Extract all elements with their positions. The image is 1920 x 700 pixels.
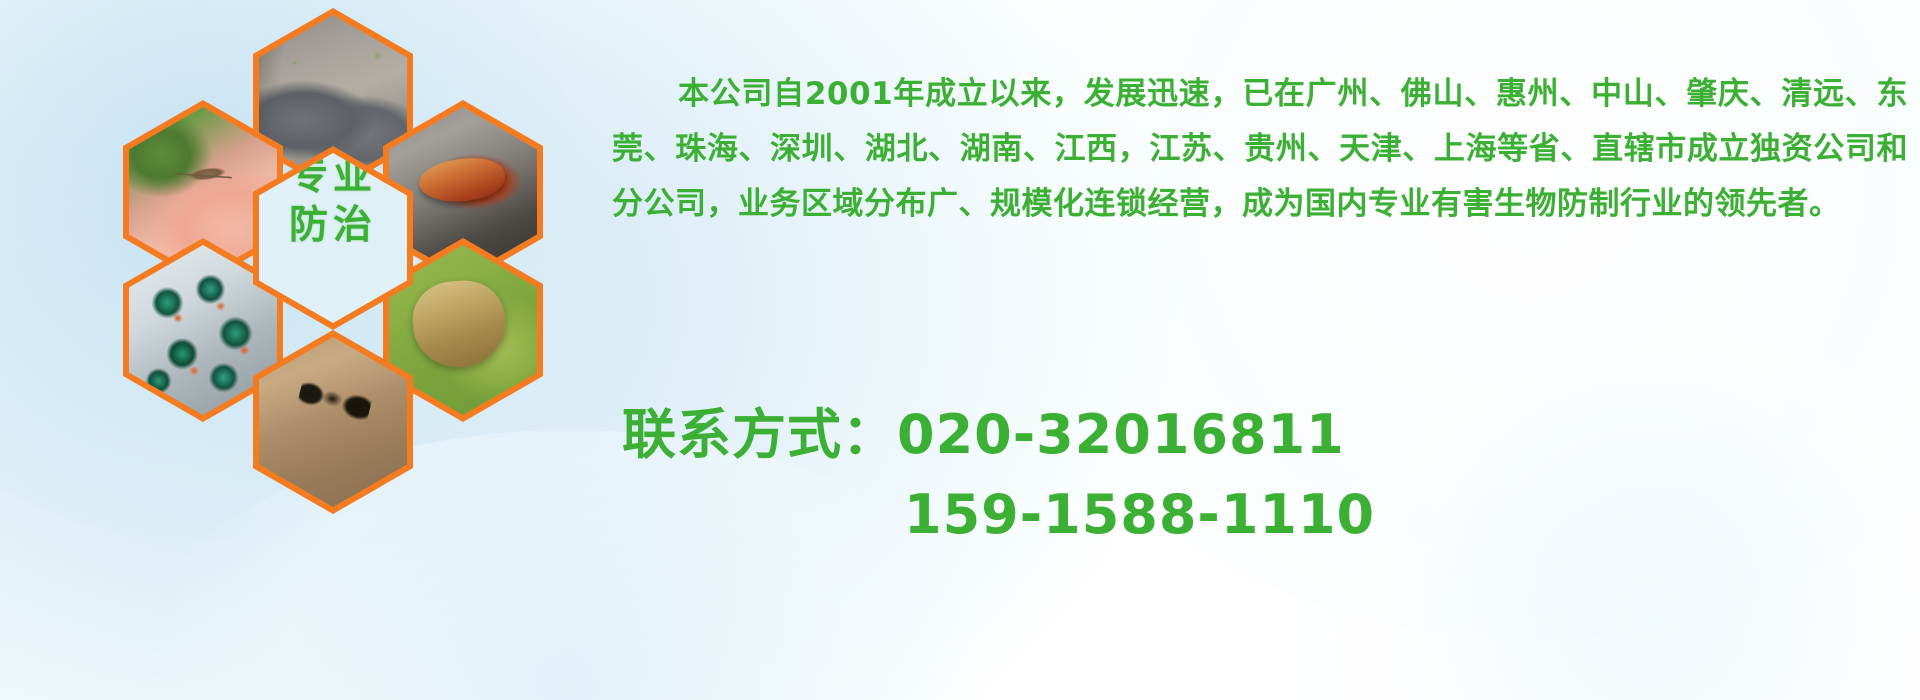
promo-banner: 专业 防治 本公司自2001年成立以来，发展迅速，已在广州、佛山、惠州、中山、肇… bbox=[0, 0, 1920, 700]
contact-block: 联系方式：020-32016811 159-1588-1110 bbox=[622, 395, 1912, 555]
honeycomb-photo-collage: 专业 防治 bbox=[80, 0, 600, 570]
slogan-line-2: 防治 bbox=[259, 202, 407, 251]
company-intro-paragraph: 本公司自2001年成立以来，发展迅速，已在广州、佛山、惠州、中山、肇庆、清远、东… bbox=[612, 67, 1908, 232]
contact-line-secondary: 159-1588-1110 bbox=[622, 475, 1912, 555]
banner-content: 本公司自2001年成立以来，发展迅速，已在广州、佛山、惠州、中山、肇庆、清远、东… bbox=[612, 0, 1912, 700]
contact-line-primary: 联系方式：020-32016811 bbox=[622, 395, 1912, 475]
ant-photo bbox=[259, 337, 407, 507]
